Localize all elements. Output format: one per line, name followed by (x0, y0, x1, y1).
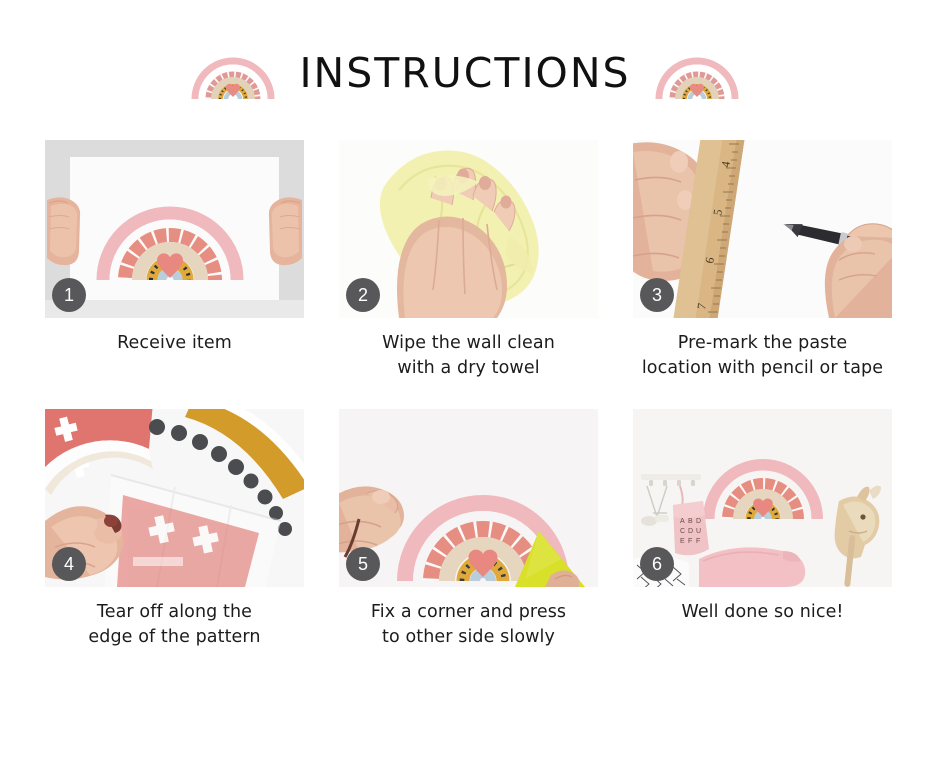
page-header: INSTRUCTIONS (0, 34, 930, 112)
svg-text:U: U (696, 528, 701, 535)
step-image-pre-mark-location: 4 5 6 7 (633, 140, 892, 318)
step-caption-line1: Fix a corner and press (371, 602, 566, 622)
step-caption: Tear off along the edge of the pattern (45, 600, 304, 650)
step-item: 4 5 6 7 (633, 140, 892, 381)
step-number-badge: 5 (346, 547, 380, 581)
step-caption: Receive item (45, 331, 304, 356)
step-caption-line1: Wipe the wall clean (382, 333, 555, 353)
step-number-badge: 2 (346, 278, 380, 312)
svg-text:F: F (688, 538, 692, 545)
step-caption-line2: location with pencil or tape (633, 356, 892, 381)
step-caption-line2: with a dry towel (339, 356, 598, 381)
svg-text:D: D (696, 518, 701, 525)
step-image-finished-room: ABD CDU EFF (633, 409, 892, 587)
step-image-fix-corner-and-press: 5 (339, 409, 598, 587)
step-caption-line1: Pre-mark the paste (678, 333, 847, 353)
step-caption: Pre-mark the paste location with pencil … (633, 331, 892, 381)
step-item: 5 Fix a corner and press to other side s… (339, 409, 598, 650)
step-number-badge: 3 (640, 278, 674, 312)
step-image-wipe-wall: 2 (339, 140, 598, 318)
steps-grid: 1 Receive item (45, 140, 897, 649)
step-item: ABD CDU EFF (633, 409, 892, 650)
step-item: 4 Tear off along the edge of the pattern (45, 409, 304, 650)
page-title: INSTRUCTIONS (299, 53, 630, 94)
step-caption-line1: Tear off along the (97, 602, 252, 622)
step-image-receive-item: 1 (45, 140, 304, 318)
svg-text:D: D (688, 528, 693, 535)
step-number-badge: 4 (52, 547, 86, 581)
svg-text:A: A (680, 518, 685, 525)
step-item: 2 Wipe the wall clean with a dry towel (339, 140, 598, 381)
step-caption: Fix a corner and press to other side slo… (339, 600, 598, 650)
step-caption-line2: to other side slowly (339, 625, 598, 650)
step-number-badge: 6 (640, 547, 674, 581)
svg-text:E: E (680, 538, 685, 545)
step-item: 1 Receive item (45, 140, 304, 381)
rainbow-icon (653, 45, 741, 101)
step-caption-line1: Receive item (117, 333, 232, 353)
step-caption-line1: Well done so nice! (681, 602, 843, 622)
step-caption-line2: edge of the pattern (45, 625, 304, 650)
step-caption: Well done so nice! (633, 600, 892, 625)
step-image-tear-off-backing: 4 (45, 409, 304, 587)
step-number-badge: 1 (52, 278, 86, 312)
step-caption: Wipe the wall clean with a dry towel (339, 331, 598, 381)
svg-text:B: B (688, 518, 693, 525)
rainbow-icon (189, 45, 277, 101)
svg-text:F: F (696, 538, 700, 545)
svg-text:C: C (680, 528, 685, 535)
